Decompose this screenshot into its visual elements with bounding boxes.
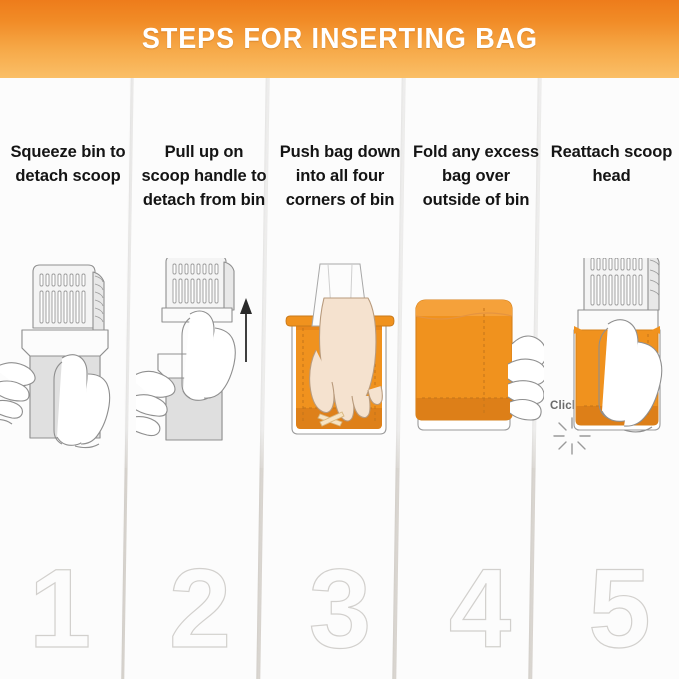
step-watermark-4: 4 [412, 553, 548, 665]
header-banner: STEPS FOR INSERTING BAG [0, 0, 679, 78]
step-column-3: Push bag down into all four corners of b… [272, 78, 408, 679]
instruction-diagram: STEPS FOR INSERTING BAG Squeeze bin to d… [0, 0, 679, 679]
step-column-4: Fold any excess bag over outside of bin … [408, 78, 544, 679]
step-illustration-4 [408, 258, 544, 473]
step-watermark-1: 1 [0, 553, 128, 665]
step-watermark-3: 3 [272, 553, 408, 665]
step-illustration-2 [136, 258, 272, 473]
step-column-5: Reattach scoop head 5 Click! [544, 78, 679, 679]
step-watermark-5: 5 [552, 553, 679, 665]
step-caption-1: Squeeze bin to detach scoop [3, 140, 133, 188]
step-caption-2: Pull up on scoop handle to detach from b… [139, 140, 269, 212]
step-caption-3: Push bag down into all four corners of b… [275, 140, 405, 212]
step-column-2: Pull up on scoop handle to detach from b… [136, 78, 272, 679]
step-column-1: Squeeze bin to detach scoop 1 [0, 78, 136, 679]
steps-board: Squeeze bin to detach scoop 1 [0, 78, 679, 679]
step-illustration-5: Click! [544, 258, 679, 473]
step-caption-5: Reattach scoop head [547, 140, 676, 188]
step-illustration-1 [0, 258, 136, 473]
step-watermark-2: 2 [132, 553, 268, 665]
step-caption-4: Fold any excess bag over outside of bin [411, 140, 541, 212]
step-illustration-3 [272, 258, 408, 473]
page-title: STEPS FOR INSERTING BAG [141, 23, 537, 56]
